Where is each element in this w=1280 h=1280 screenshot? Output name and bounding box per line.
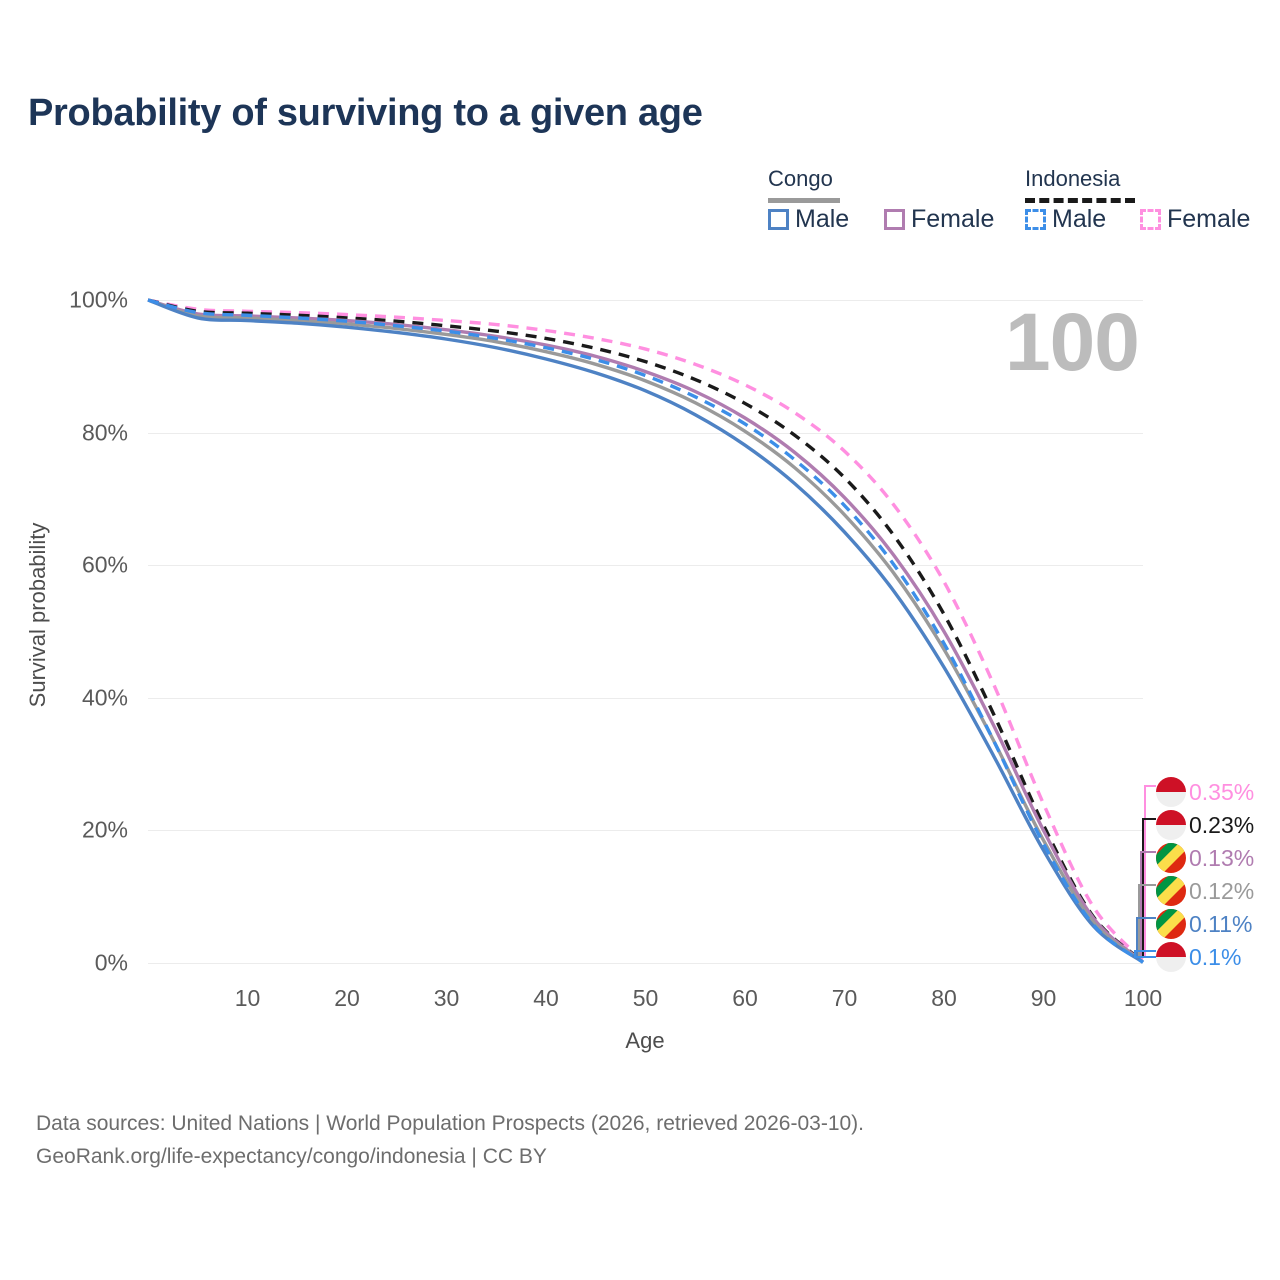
legend-item-indonesia-male[interactable]: Male [1025, 205, 1106, 234]
footer: Data sources: United Nations | World Pop… [36, 1108, 864, 1173]
end-label-congo-total: 0.12% [1156, 874, 1254, 908]
congo-flag-icon [1156, 843, 1186, 873]
x-tick-label: 60 [732, 985, 758, 1012]
series-line-indonesia-female [148, 300, 1143, 961]
legend-group-congo-title: Congo [768, 166, 833, 192]
y-tick-label: 60% [82, 552, 128, 579]
footer-line-sources: Data sources: United Nations | World Pop… [36, 1108, 864, 1141]
x-tick-label: 70 [832, 985, 858, 1012]
legend-swatch-indonesia-female [1140, 209, 1161, 230]
y-axis-title: Survival probability [25, 523, 51, 708]
legend-item-congo-male[interactable]: Male [768, 205, 849, 234]
end-label-indonesia-total: 0.23% [1156, 808, 1254, 842]
congo-flag-icon [1156, 876, 1186, 906]
legend: Congo Indonesia Male Female Male Female [760, 160, 1260, 240]
series-line-indonesia-male [148, 300, 1143, 962]
end-label-value: 0.12% [1189, 878, 1254, 905]
end-label-congo-male: 0.11% [1156, 907, 1253, 941]
end-label-value: 0.1% [1189, 944, 1241, 971]
legend-group-congo-rule [768, 198, 840, 203]
page-title: Probability of surviving to a given age [28, 92, 703, 135]
y-tick-label: 40% [82, 684, 128, 711]
x-tick-label: 40 [533, 985, 559, 1012]
end-value-labels: 0.35%0.23%0.13%0.12%0.11%0.1% [1140, 775, 1280, 975]
series-line-congo-male [148, 300, 1143, 962]
chart-container: Probability of surviving to a given age … [0, 0, 1280, 1280]
x-tick-label: 50 [633, 985, 659, 1012]
x-tick-label: 30 [434, 985, 460, 1012]
footer-line-url: GeoRank.org/life-expectancy/congo/indone… [36, 1141, 864, 1174]
gridline [148, 963, 1143, 964]
end-label-indonesia-male: 0.1% [1156, 940, 1241, 974]
end-label-connector [1134, 950, 1156, 958]
series-line-congo-female [148, 300, 1143, 962]
legend-label-congo-female: Female [911, 205, 994, 234]
legend-swatch-congo-male [768, 209, 789, 230]
x-tick-label: 20 [334, 985, 360, 1012]
survival-curves [148, 300, 1143, 963]
x-axis-title: Age [625, 1028, 664, 1054]
x-tick-label: 100 [1124, 985, 1162, 1012]
series-line-congo-total [148, 300, 1143, 962]
legend-item-indonesia-female[interactable]: Female [1140, 205, 1250, 234]
x-tick-label: 80 [931, 985, 957, 1012]
plot-area [148, 300, 1143, 963]
end-label-congo-female: 0.13% [1156, 841, 1254, 875]
end-label-indonesia-female: 0.35% [1156, 775, 1254, 809]
legend-swatch-indonesia-male [1025, 209, 1046, 230]
congo-flag-icon [1156, 909, 1186, 939]
y-tick-label: 100% [69, 287, 128, 314]
legend-group-indonesia-rule [1025, 198, 1135, 203]
series-line-indonesia-total [148, 300, 1143, 961]
legend-swatch-congo-female [884, 209, 905, 230]
legend-group-indonesia-title: Indonesia [1025, 166, 1120, 192]
indonesia-flag-icon [1156, 777, 1186, 807]
end-label-value: 0.35% [1189, 779, 1254, 806]
indonesia-flag-icon [1156, 942, 1186, 972]
y-tick-label: 20% [82, 817, 128, 844]
legend-label-congo-male: Male [795, 205, 849, 234]
x-tick-label: 10 [235, 985, 261, 1012]
y-tick-label: 0% [95, 950, 128, 977]
y-tick-label: 80% [82, 419, 128, 446]
legend-label-indonesia-male: Male [1052, 205, 1106, 234]
end-label-value: 0.13% [1189, 845, 1254, 872]
legend-label-indonesia-female: Female [1167, 205, 1250, 234]
indonesia-flag-icon [1156, 810, 1186, 840]
legend-item-congo-female[interactable]: Female [884, 205, 994, 234]
end-label-value: 0.11% [1189, 911, 1253, 938]
x-tick-label: 90 [1031, 985, 1057, 1012]
end-label-value: 0.23% [1189, 812, 1254, 839]
